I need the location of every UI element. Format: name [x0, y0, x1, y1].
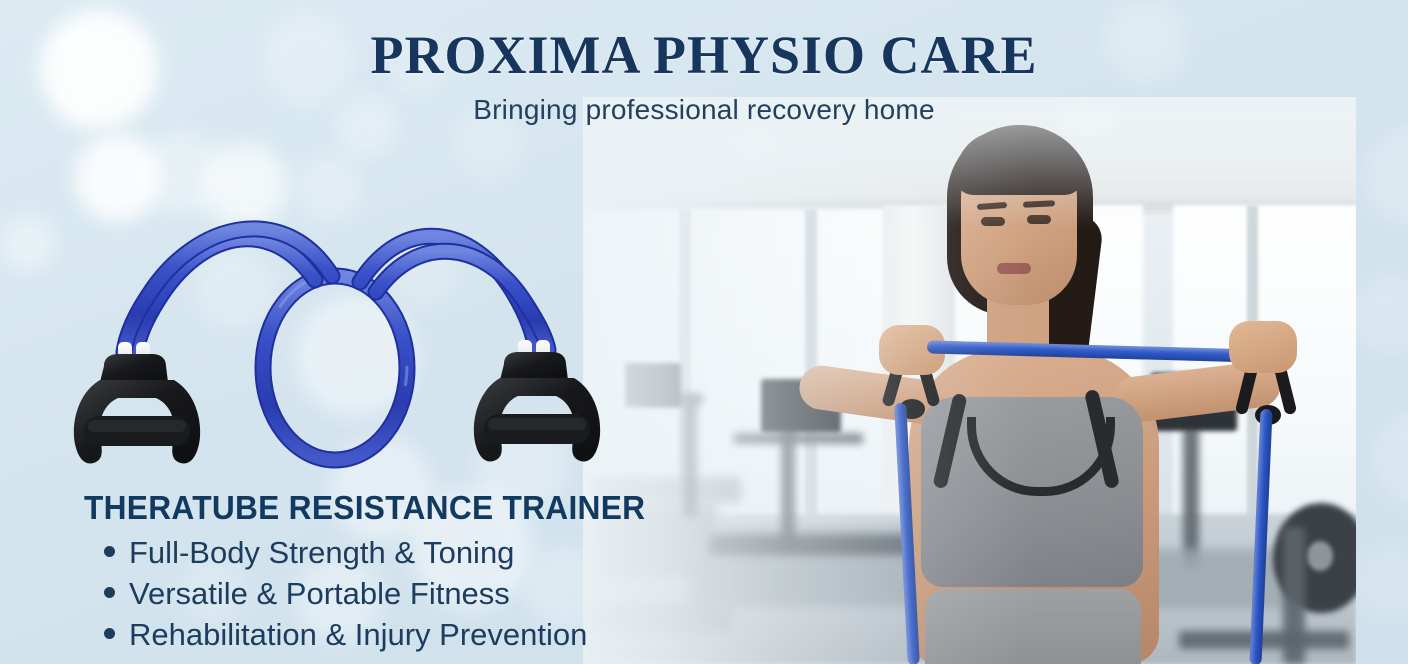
brand-tagline: Bringing professional recovery home	[0, 94, 1408, 126]
product-image	[60, 180, 620, 470]
feature-label: Full-Body Strength & Toning	[129, 533, 514, 574]
bullet-icon	[104, 546, 115, 557]
list-item: Rehabilitation & Injury Prevention	[104, 615, 587, 656]
bokeh-circle	[1356, 548, 1408, 618]
handle-right	[474, 340, 600, 461]
bokeh-circle	[0, 216, 56, 272]
bokeh-circle	[1366, 130, 1408, 222]
page-title: PROXIMA PHYSIO CARE	[0, 24, 1408, 86]
feature-list: Full-Body Strength & Toning Versatile & …	[104, 533, 587, 656]
feature-label: Rehabilitation & Injury Prevention	[129, 615, 587, 656]
list-item: Full-Body Strength & Toning	[104, 533, 587, 574]
bokeh-circle	[1352, 276, 1408, 354]
bullet-icon	[104, 628, 115, 639]
resistance-tube-illustration	[60, 180, 620, 470]
gym-lifestyle-photo	[583, 97, 1356, 664]
promo-banner: PROXIMA PHYSIO CARE Bringing professiona…	[0, 0, 1408, 664]
feature-label: Versatile & Portable Fitness	[129, 574, 510, 615]
handle-left	[74, 342, 200, 463]
product-headline: THERATUBE RESISTANCE TRAINER	[84, 489, 645, 527]
list-item: Versatile & Portable Fitness	[104, 574, 587, 615]
bullet-icon	[104, 587, 115, 598]
bokeh-circle	[1372, 410, 1408, 506]
